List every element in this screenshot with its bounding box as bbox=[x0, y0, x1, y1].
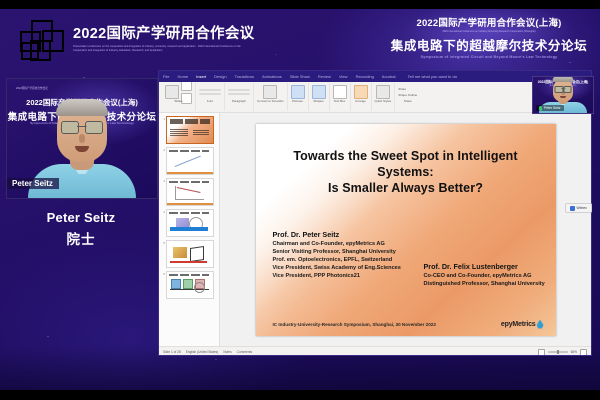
powerpoint-work-area: 1 2 3 4 bbox=[159, 113, 591, 346]
slide-title-line2: Is Smaller Always Better? bbox=[270, 180, 542, 196]
banner-line1-english: 2022 International Conference on Industr… bbox=[442, 30, 535, 33]
text-box-icon[interactable] bbox=[333, 85, 347, 99]
app-icon bbox=[570, 206, 575, 211]
author-right-line-2: Distinguished Professor, Shanghai Univer… bbox=[424, 280, 552, 288]
normal-view-icon[interactable] bbox=[538, 349, 545, 356]
ribbon-tab-file[interactable]: File bbox=[163, 74, 169, 79]
language-indicator[interactable]: English (United States) bbox=[186, 350, 219, 354]
ribbon-group-shapes[interactable]: Shapes bbox=[309, 83, 330, 111]
banner-line2: 集成电路下的超越摩尔技术分论坛 bbox=[391, 35, 588, 54]
event-banner: 2022国际产学研用合作会议(上海) 2022 International Co… bbox=[378, 9, 600, 65]
ribbon-group-textbox-label: Text Box bbox=[334, 100, 346, 103]
video-name-badge: Peter Seitz bbox=[7, 178, 59, 189]
arrange-icon[interactable] bbox=[354, 85, 368, 99]
letterbox-bottom bbox=[0, 390, 600, 400]
shape-outline-label[interactable]: Shape Outline bbox=[398, 93, 417, 97]
ribbon-group-share[interactable]: Share Shape Outline Share bbox=[395, 83, 420, 111]
letterbox-top bbox=[0, 0, 600, 9]
thumb-number: 2 bbox=[161, 147, 165, 152]
epymetrics-logo: epyMetrics bbox=[501, 320, 544, 329]
participant-name: Peter Seitz bbox=[544, 106, 561, 110]
slide-title-line1: Towards the Sweet Spot in Intelligent Sy… bbox=[270, 148, 542, 181]
speaker-title: 院士 bbox=[6, 228, 156, 248]
speaker-name: Peter Seitz bbox=[6, 210, 156, 225]
speaker-caption: Peter Seitz 院士 bbox=[6, 210, 156, 248]
thumb-number: 5 bbox=[161, 240, 165, 245]
thumb-number: 1 bbox=[161, 116, 165, 121]
author-left-line-4: Vice President, Swiss Academy of Eng.Sci… bbox=[273, 264, 423, 272]
slide-thumbnail-1[interactable] bbox=[166, 116, 214, 144]
author-left-line-2: Senior Visiting Professor, Shanghai Univ… bbox=[273, 248, 423, 256]
ribbon-tab-recording[interactable]: Recording bbox=[356, 74, 374, 79]
list-item[interactable]: 4 bbox=[161, 209, 217, 237]
ribbon-group-arrange-label: Arrange bbox=[355, 100, 366, 103]
thumb-number: 4 bbox=[161, 209, 165, 214]
overlapping-squares-icon bbox=[18, 18, 64, 62]
event-logo-subtitle: Presentation conference on the cooperati… bbox=[73, 45, 253, 53]
slide-canvas[interactable]: Towards the Sweet Spot in Intelligent Sy… bbox=[220, 113, 591, 346]
participant-name-badge: Peter Seitz bbox=[536, 105, 564, 111]
slide-thumbnail-5[interactable] bbox=[166, 240, 214, 268]
slide-thumbnail-pane[interactable]: 1 2 3 4 bbox=[159, 113, 220, 346]
ribbon-tab-view[interactable]: View bbox=[339, 74, 348, 79]
author-left-name: Prof. Dr. Peter Seitz bbox=[273, 230, 423, 239]
event-logo-text: 2022国际产学研用合作会议 Presentation conference o… bbox=[73, 27, 254, 53]
ribbon-tab-review[interactable]: Review bbox=[318, 74, 331, 79]
eyeglasses-icon bbox=[555, 86, 572, 91]
list-item[interactable]: 1 bbox=[161, 116, 217, 144]
notification-popup[interactable]: Webex bbox=[565, 203, 593, 213]
ribbon-body[interactable]: Slides Font Paragraph Convert to SmartAr… bbox=[159, 82, 591, 113]
participant-video-thumbnail[interactable]: 2022国际产学研用合作会议(上海) 集成电路下的超越摩尔技术分论坛 Peter… bbox=[532, 76, 594, 114]
new-slide-icon[interactable] bbox=[165, 85, 179, 99]
list-item[interactable]: 3 bbox=[161, 178, 217, 206]
author-left-line-1: Chairman and Co-Founder, epyMetrics AG bbox=[273, 240, 423, 248]
event-logo: 2022国际产学研用合作会议 Presentation conference o… bbox=[18, 18, 254, 62]
ribbon-group-share-label: Share bbox=[404, 100, 412, 103]
ribbon-group-smartart[interactable]: Convert to SmartArt bbox=[254, 83, 288, 111]
ribbon-tab-insert[interactable]: Insert bbox=[196, 74, 206, 79]
speaker-video-panel[interactable]: 2022国际产学研用合作会议 2022国际产学研用合作会议(上海) 集成电路下的… bbox=[6, 78, 156, 268]
ribbon-group-paragraph[interactable]: Paragraph bbox=[225, 83, 254, 111]
author-block-left: Prof. Dr. Peter Seitz Chairman and Co-Fo… bbox=[273, 230, 423, 281]
comments-button[interactable]: Comments bbox=[237, 350, 252, 354]
ribbon-group-quick-styles[interactable]: Quick Styles bbox=[372, 83, 396, 111]
eyeglasses-icon bbox=[61, 121, 103, 132]
author-block-right: Prof. Dr. Felix Lustenberger Co-CEO and … bbox=[424, 262, 552, 288]
banner-line1: 2022国际产学研用合作会议(上海) bbox=[416, 15, 561, 29]
ribbon-group-pictures-label: Pictures bbox=[292, 100, 303, 103]
ribbon-group-arrange[interactable]: Arrange bbox=[351, 83, 372, 111]
ribbon-tab-bar[interactable]: File Home Insert Design Transitions Anim… bbox=[159, 71, 591, 82]
ribbon-tab-acrobat[interactable]: Acrobat bbox=[382, 74, 396, 79]
screen-capture: 2022国际产学研用合作会议 Presentation conference o… bbox=[0, 0, 600, 400]
smartart-icon[interactable] bbox=[263, 85, 277, 99]
list-item[interactable]: 2 bbox=[161, 147, 217, 175]
ribbon-group-quick-styles-label: Quick Styles bbox=[375, 100, 392, 103]
list-item[interactable]: 6 bbox=[161, 271, 217, 299]
ribbon-group-pictures[interactable]: Pictures bbox=[288, 83, 309, 111]
ribbon-group-font-label: Font bbox=[207, 100, 213, 103]
ribbon-group-slides[interactable]: Slides bbox=[162, 83, 196, 111]
shared-screen-powerpoint[interactable]: File Home Insert Design Transitions Anim… bbox=[158, 70, 592, 356]
quick-styles-icon[interactable] bbox=[376, 85, 390, 99]
author-left-line-3: Prof. em. Optoelectronics, EPFL, Switzer… bbox=[273, 256, 423, 264]
shapes-icon[interactable] bbox=[312, 85, 326, 99]
event-logo-title: 2022国际产学研用合作会议 bbox=[73, 27, 254, 42]
ribbon-group-slides-label: Slides bbox=[174, 100, 182, 103]
ribbon-group-font[interactable]: Font bbox=[196, 83, 225, 111]
author-right-line-1: Co-CEO and Co-Founder, epyMetrics AG bbox=[424, 272, 552, 280]
author-left-line-5: Vice President, PPP Photonics21 bbox=[273, 272, 423, 280]
slide-indicator: Slide 1 of 28 bbox=[163, 350, 181, 354]
ribbon-tab-animations[interactable]: Animations bbox=[262, 74, 282, 79]
slide-thumbnail-3[interactable] bbox=[166, 178, 214, 206]
speaker-video-feed[interactable]: 2022国际产学研用合作会议 2022国际产学研用合作会议(上海) 集成电路下的… bbox=[6, 78, 158, 199]
banner-line2-english: Symposium of Integrated Circuit and Beyo… bbox=[421, 55, 558, 59]
current-slide[interactable]: Towards the Sweet Spot in Intelligent Sy… bbox=[256, 124, 556, 336]
share-label[interactable]: Share bbox=[398, 87, 417, 91]
ribbon-group-textbox[interactable]: Text Box bbox=[330, 83, 351, 111]
notes-button[interactable]: Notes bbox=[223, 350, 231, 354]
slide-thumbnail-4[interactable] bbox=[166, 209, 214, 237]
thumb-number: 3 bbox=[161, 178, 165, 183]
list-item[interactable]: 5 bbox=[161, 240, 217, 268]
tell-me-search[interactable]: Tell me what you want to do bbox=[408, 74, 457, 79]
author-right-name: Prof. Dr. Felix Lustenberger bbox=[424, 262, 552, 271]
slide-title: Towards the Sweet Spot in Intelligent Sy… bbox=[256, 148, 556, 197]
virtual-bg-tag: 2022国际产学研用合作会议 bbox=[16, 86, 48, 90]
ribbon-group-paragraph-label: Paragraph bbox=[232, 100, 246, 103]
ribbon-tab-design[interactable]: Design bbox=[214, 74, 226, 79]
slide-thumbnail-6[interactable] bbox=[166, 271, 214, 299]
ribbon-tab-slide-show[interactable]: Slide Show bbox=[290, 74, 310, 79]
microphone-icon bbox=[539, 106, 542, 111]
ribbon-group-shapes-label: Shapes bbox=[313, 100, 323, 103]
zoom-level: 68% bbox=[571, 350, 577, 354]
ribbon-group-smartart-label: Convert to SmartArt bbox=[257, 100, 284, 103]
notification-text: Webex bbox=[577, 206, 588, 210]
ribbon-tab-transitions[interactable]: Transitions bbox=[235, 74, 254, 79]
fit-to-window-icon[interactable] bbox=[580, 349, 587, 356]
slide-footer: IC Industry-University-Research Symposiu… bbox=[273, 322, 436, 327]
ribbon-tab-home[interactable]: Home bbox=[177, 74, 188, 79]
powerpoint-status-bar[interactable]: Slide 1 of 28 English (United States) No… bbox=[159, 346, 591, 356]
zoom-slider[interactable] bbox=[548, 351, 568, 353]
layout-icon[interactable] bbox=[181, 82, 192, 91]
epymetrics-wordmark: epyMetrics bbox=[501, 321, 536, 328]
droplet-icon bbox=[537, 320, 544, 329]
picture-icon[interactable] bbox=[291, 85, 305, 99]
slide-thumbnail-2[interactable] bbox=[166, 147, 214, 175]
thumb-number: 6 bbox=[161, 271, 165, 276]
